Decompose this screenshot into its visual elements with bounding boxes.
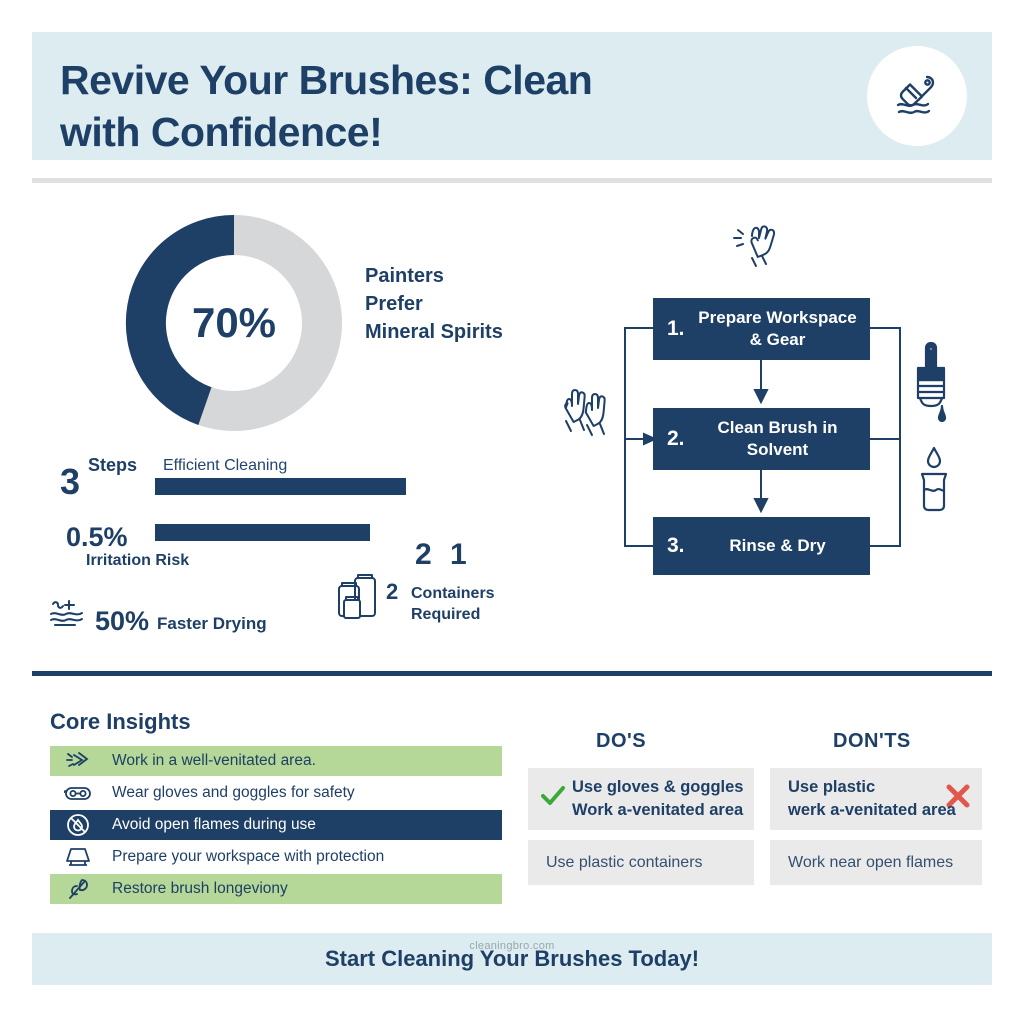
logo-badge — [867, 46, 967, 146]
insight-label-1: Wear gloves and goggles for safety — [112, 784, 355, 802]
jars-icon — [335, 572, 390, 624]
brush-leaf-icon — [58, 877, 98, 901]
insight-label-4: Restore brush longeviony — [112, 880, 288, 898]
donut-chart: 70% — [125, 214, 343, 432]
donut-center-value: 70% — [125, 299, 343, 347]
core-insights-title: Core Insights — [50, 709, 191, 735]
donts-card-0-text: Use plastic werk a-venitated area — [788, 776, 956, 822]
page-title: Revive Your Brushes: Clean with Confiden… — [60, 54, 760, 158]
drying-waves-icon — [47, 598, 91, 630]
donts-card-0[interactable]: Use plastic werk a-venitated area — [770, 768, 982, 830]
insight-row-no-flames[interactable]: Avoid open flames during use — [50, 810, 502, 840]
insight-label-2: Avoid open flames during use — [112, 816, 316, 834]
infographic-page: Revive Your Brushes: Clean with Confiden… — [0, 0, 1024, 1024]
stat-irritation-caption: Irritation Risk — [86, 552, 189, 570]
donut-label: Painters Prefer Mineral Spirits — [365, 262, 555, 346]
donts-card-1-text: Work near open flames — [788, 851, 953, 873]
stat-irritation-number: 0.5% — [66, 524, 128, 551]
gloves-pair-icon — [558, 386, 622, 444]
watermark: cleaningbro.com — [0, 940, 1024, 952]
dos-card-1[interactable]: Use plastic containers — [528, 840, 754, 885]
containers-badge: 2 — [386, 581, 398, 603]
insight-label-3: Prepare your workspace with protection — [112, 848, 384, 866]
drop-cloth-icon — [58, 846, 98, 868]
flow-step-3-number: 3. — [667, 534, 685, 558]
insight-row-longevity[interactable]: Restore brush longeviony — [50, 874, 502, 904]
donts-heading: DON'TS — [833, 730, 911, 753]
paintbrush-icon — [886, 65, 948, 127]
donts-card-1[interactable]: Work near open flames — [770, 840, 982, 885]
check-icon — [540, 785, 566, 807]
flow-step-3-label: Rinse & Dry — [693, 535, 862, 557]
dos-card-1-text: Use plastic containers — [546, 851, 703, 873]
clapping-gloves-icon — [728, 220, 784, 272]
ventilation-arrows-icon — [58, 750, 98, 772]
containers-caption: Containers Required — [411, 584, 531, 626]
dos-heading: DO'S — [596, 730, 646, 753]
stat-drying-number: 50% — [95, 608, 149, 635]
insight-row-ventilation[interactable]: Work in a well-venitated area. — [50, 746, 502, 776]
paintbrush-drip-icon — [908, 342, 954, 430]
header-banner: Revive Your Brushes: Clean with Confiden… — [32, 32, 992, 160]
flow-step-2[interactable]: 2. Clean Brush in Solvent — [653, 408, 870, 470]
insight-row-goggles[interactable]: Wear gloves and goggles for safety — [50, 778, 502, 808]
dos-card-0-text: Use gloves & goggles Work a-venitated ar… — [572, 776, 743, 822]
divider-bottom — [32, 671, 992, 676]
flow-step-3[interactable]: 3. Rinse & Dry — [653, 517, 870, 575]
stat-steps-caption: Efficient Cleaning — [163, 457, 287, 475]
flow-step-1-number: 1. — [667, 317, 685, 341]
stat-steps-word: Steps — [88, 455, 137, 476]
flow-step-2-number: 2. — [667, 427, 685, 451]
flow-step-1-label: Prepare Workspace & Gear — [693, 307, 862, 351]
stat-bar-irritation-risk — [155, 524, 370, 541]
goggles-icon — [58, 784, 98, 802]
stat-steps-number: 3 — [60, 464, 80, 500]
insight-row-workspace[interactable]: Prepare your workspace with protection — [50, 842, 502, 872]
process-flowchart: 1. Prepare Workspace & Gear 2. Clean Bru… — [540, 210, 992, 610]
no-flame-icon — [58, 813, 98, 837]
containers-number: 2 1 — [415, 540, 472, 570]
stat-drying-caption: Faster Drying — [157, 614, 267, 634]
divider-top — [32, 178, 992, 183]
flow-step-1[interactable]: 1. Prepare Workspace & Gear — [653, 298, 870, 360]
insight-label-0: Work in a well-venitated area. — [112, 752, 316, 770]
flow-step-2-label: Clean Brush in Solvent — [693, 417, 862, 461]
stat-bar-efficient-cleaning — [155, 478, 406, 495]
solvent-jar-icon — [912, 446, 956, 514]
dos-card-0[interactable]: Use gloves & goggles Work a-venitated ar… — [528, 768, 754, 830]
